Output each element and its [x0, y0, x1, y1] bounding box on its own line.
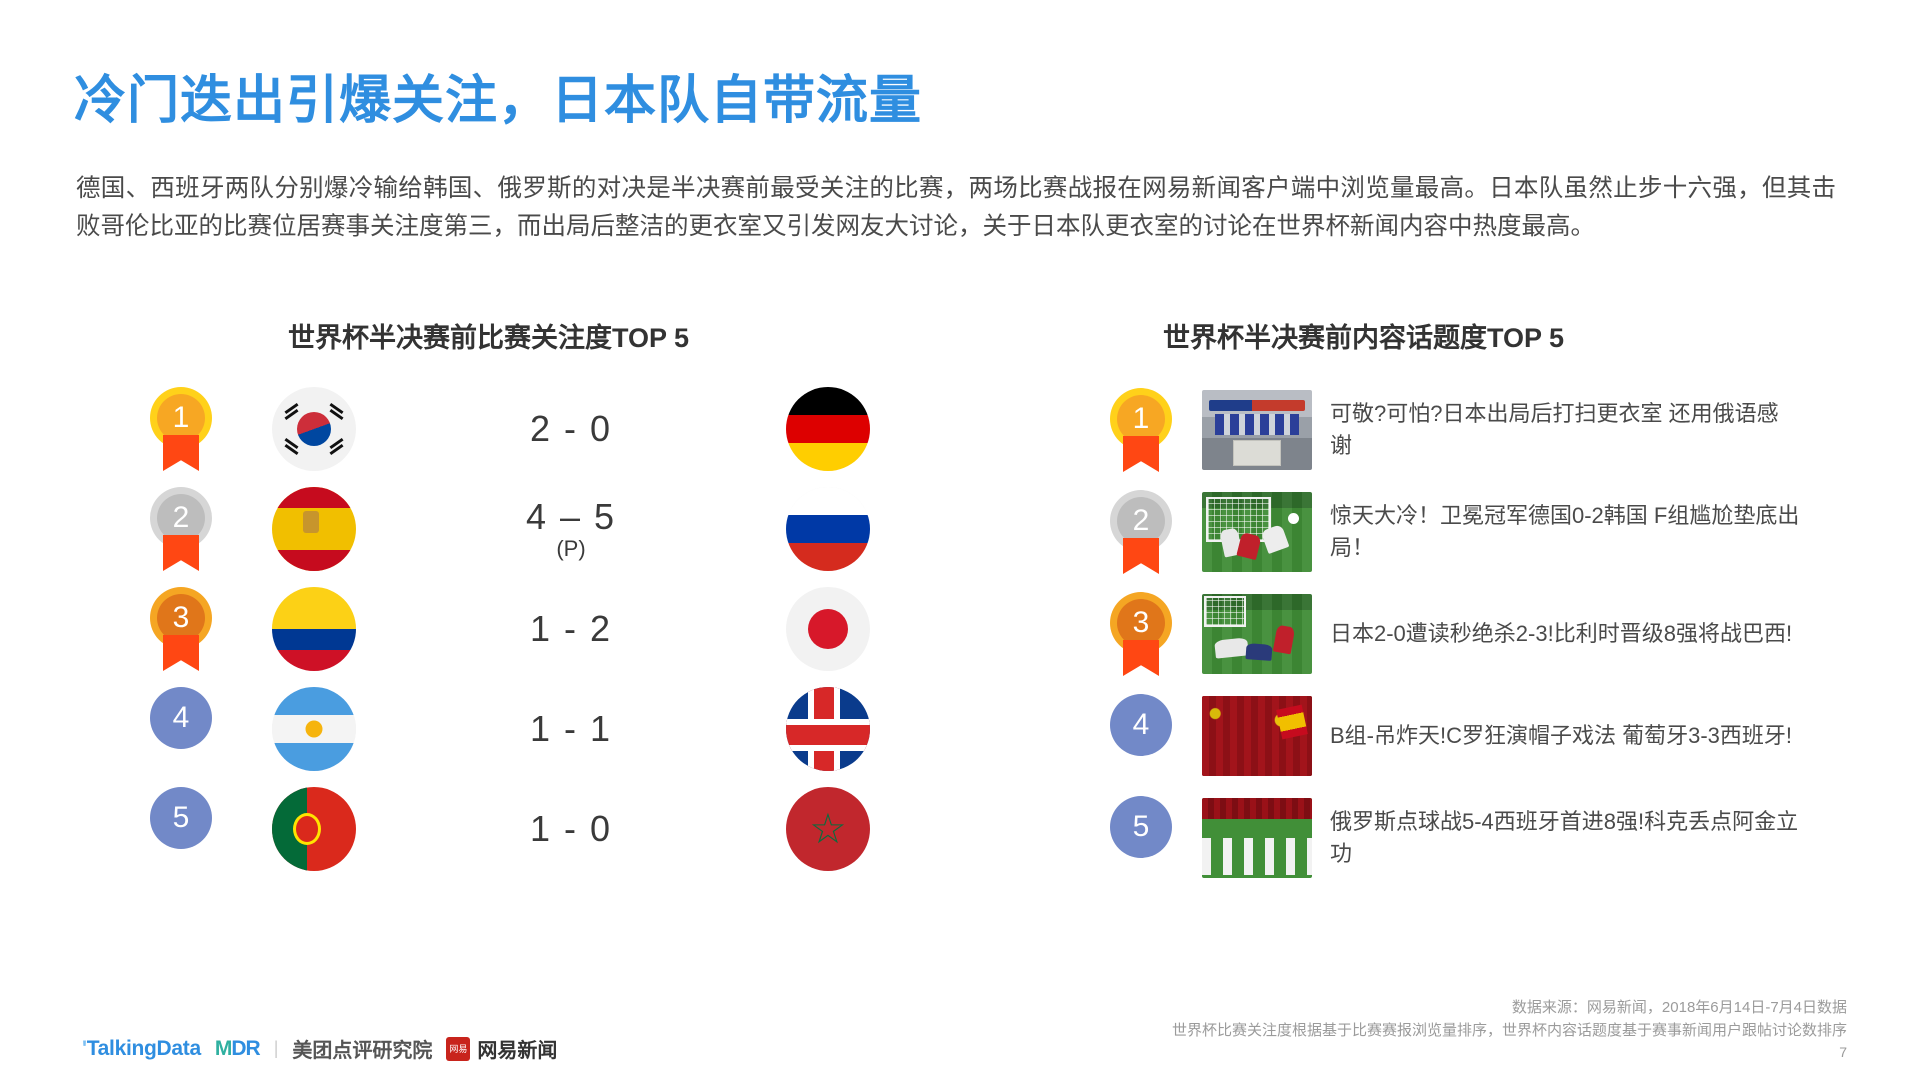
rank-number: 1 — [1133, 402, 1150, 436]
news-ranking-list: 1 可敬?可怕?日本出局后打扫更衣室 还用俄语感谢 2 惊天大冷！卫冕冠军德国0… — [1110, 380, 1880, 890]
flag-icon-morocco: ☆ — [786, 787, 870, 871]
news-headline[interactable]: 俄罗斯点球战5-4西班牙首进8强!科克丢点阿金立功 — [1330, 806, 1800, 870]
penalty-note: (P) — [356, 537, 786, 560]
flag-icon-germany — [786, 387, 870, 471]
match-row[interactable]: 1 2 - 0 — [150, 380, 870, 478]
rank-badge-gold: 1 — [150, 387, 212, 471]
flag-icon-spain — [272, 487, 356, 571]
flag-icon-japan — [786, 587, 870, 671]
rank-badge-5: 5 — [150, 787, 212, 871]
rank-badge-5: 5 — [1110, 796, 1172, 880]
flag-icon-argentina — [272, 687, 356, 771]
rank-number: 3 — [173, 601, 190, 635]
data-source-note: 数据来源：网易新闻，2018年6月14日-7月4日数据 — [1512, 996, 1847, 1019]
news-row[interactable]: 2 惊天大冷！卫冕冠军德国0-2韩国 F组尴尬垫底出局！ — [1110, 482, 1880, 582]
rank-badge-4: 4 — [1110, 694, 1172, 778]
rank-number: 4 — [1133, 708, 1150, 742]
rank-badge-silver: 2 — [1110, 490, 1172, 574]
flag-icon-portugal — [272, 787, 356, 871]
meituan-research-logo: 美团点评研究院 — [292, 1034, 432, 1063]
rank-number: 1 — [173, 401, 190, 435]
rank-badge-bronze: 3 — [150, 587, 212, 671]
ribbon-icon — [1123, 640, 1159, 676]
flag-icon-iceland — [786, 687, 870, 771]
ribbon-icon — [1123, 538, 1159, 574]
news-thumbnail-russia-celebrate[interactable] — [1202, 798, 1312, 878]
mdr-logo: MDR — [215, 1037, 260, 1061]
rank-badge-bronze: 3 — [1110, 592, 1172, 676]
ribbon-icon — [163, 535, 199, 571]
match-row[interactable]: 2 4 – 5 (P) — [150, 480, 870, 578]
rank-number: 3 — [1133, 606, 1150, 640]
ribbon-icon — [163, 435, 199, 471]
news-headline[interactable]: B组-吊炸天!C罗狂演帽子戏法 葡萄牙3-3西班牙! — [1330, 720, 1792, 752]
news-headline[interactable]: 可敬?可怕?日本出局后打扫更衣室 还用俄语感谢 — [1330, 398, 1800, 462]
methodology-note: 世界杯比赛关注度根据基于比赛赛报浏览量排序，世界杯内容话题度基于赛事新闻用户跟帖… — [1172, 1019, 1847, 1042]
match-ranking-list: 1 2 - 0 2 — [150, 380, 870, 880]
rank-number: 2 — [1133, 504, 1150, 538]
match-row[interactable]: 4 1 - 1 — [150, 680, 870, 778]
match-score: 4 – 5 (P) — [356, 498, 786, 561]
rank-badge-4: 4 — [150, 687, 212, 771]
match-row[interactable]: 3 1 - 2 — [150, 580, 870, 678]
news-headline[interactable]: 日本2-0遭读秒绝杀2-3!比利时晋级8强将战巴西! — [1330, 618, 1792, 650]
lede-paragraph: 德国、西班牙两队分别爆冷输给韩国、俄罗斯的对决是半决赛前最受关注的比赛，两场比赛… — [76, 170, 1836, 246]
match-score: 1 - 1 — [356, 710, 786, 748]
netease-badge-icon: 网易 — [446, 1037, 470, 1061]
left-panel-header: 世界杯半决赛前比赛关注度TOP 5 — [288, 316, 689, 355]
match-score: 1 - 2 — [356, 610, 786, 648]
news-row[interactable]: 4 B组-吊炸天!C罗狂演帽子戏法 葡萄牙3-3西班牙! — [1110, 686, 1880, 786]
talkingdata-logo: 'TalkingData — [82, 1037, 201, 1061]
news-thumbnail-locker-room[interactable] — [1202, 390, 1312, 470]
page-title: 冷门迭出引爆关注，日本队自带流量 — [74, 58, 922, 133]
match-row[interactable]: 5 1 - 0 ☆ — [150, 780, 870, 878]
brand-bar: 'TalkingData MDR | 美团点评研究院 网易 网易新闻 — [82, 1034, 557, 1063]
ribbon-icon — [1123, 436, 1159, 472]
flag-icon-russia — [786, 487, 870, 571]
rank-number: 2 — [173, 501, 190, 535]
news-thumbnail-goal-save[interactable] — [1202, 492, 1312, 572]
rank-number: 5 — [1133, 810, 1150, 844]
news-row[interactable]: 1 可敬?可怕?日本出局后打扫更衣室 还用俄语感谢 — [1110, 380, 1880, 480]
rank-badge-silver: 2 — [150, 487, 212, 571]
rank-badge-gold: 1 — [1110, 388, 1172, 472]
right-panel-header: 世界杯半决赛前内容话题度TOP 5 — [1163, 316, 1564, 355]
slide-root: 冷门迭出引爆关注，日本队自带流量 德国、西班牙两队分别爆冷输给韩国、俄罗斯的对决… — [0, 0, 1921, 1080]
netease-news-logo: 网易 网易新闻 — [446, 1034, 557, 1063]
news-row[interactable]: 5 俄罗斯点球战5-4西班牙首进8强!科克丢点阿金立功 — [1110, 788, 1880, 888]
news-headline[interactable]: 惊天大冷！卫冕冠军德国0-2韩国 F组尴尬垫底出局！ — [1330, 500, 1800, 564]
rank-number: 5 — [173, 801, 190, 835]
match-score: 2 - 0 — [356, 410, 786, 448]
news-thumbnail-spain-fans[interactable] — [1202, 696, 1312, 776]
ribbon-icon — [163, 635, 199, 671]
match-score: 1 - 0 — [356, 810, 786, 848]
flag-icon-colombia — [272, 587, 356, 671]
news-thumbnail-japan-belgium[interactable] — [1202, 594, 1312, 674]
brand-divider: | — [274, 1038, 279, 1059]
flag-icon-south-korea — [272, 387, 356, 471]
rank-number: 4 — [173, 701, 190, 735]
page-number: 7 — [1839, 1044, 1847, 1060]
news-row[interactable]: 3 日本2-0遭读秒绝杀2-3!比利时晋级8强将战巴西! — [1110, 584, 1880, 684]
